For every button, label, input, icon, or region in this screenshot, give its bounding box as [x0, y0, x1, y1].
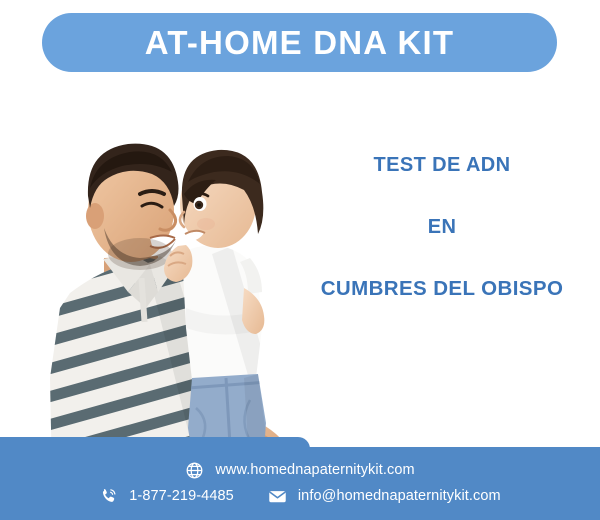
- family-photo: [0, 78, 320, 478]
- website-item[interactable]: www.homednapaternitykit.com: [185, 461, 414, 480]
- page-title: AT-HOME DNA KIT: [145, 26, 454, 59]
- email-label: info@homednapaternitykit.com: [298, 489, 501, 504]
- phone-item[interactable]: 1-877-219-4485: [99, 487, 234, 506]
- footer-row-phone-email: 1-877-219-4485 info@homednapaternitykit.…: [99, 487, 501, 506]
- promo-banner: AT-HOME DNA KIT TEST DE ADN EN CUMBRES D…: [0, 0, 600, 520]
- website-label: www.homednapaternitykit.com: [215, 463, 414, 478]
- headline-line-2: EN: [288, 217, 596, 237]
- headline-line-1: TEST DE ADN: [288, 155, 596, 175]
- phone-icon: [99, 487, 118, 506]
- headline-block: TEST DE ADN EN CUMBRES DEL OBISPO: [288, 155, 596, 300]
- footer-contact-info: www.homednapaternitykit.com 1-877-219-44…: [0, 447, 600, 520]
- header-banner: AT-HOME DNA KIT: [42, 13, 557, 72]
- phone-label: 1-877-219-4485: [129, 489, 234, 504]
- globe-icon: [185, 461, 204, 480]
- headline-line-3: CUMBRES DEL OBISPO: [288, 279, 596, 300]
- footer-row-website: www.homednapaternitykit.com: [185, 461, 414, 480]
- envelope-icon: [268, 487, 287, 506]
- email-item[interactable]: info@homednapaternitykit.com: [268, 487, 501, 506]
